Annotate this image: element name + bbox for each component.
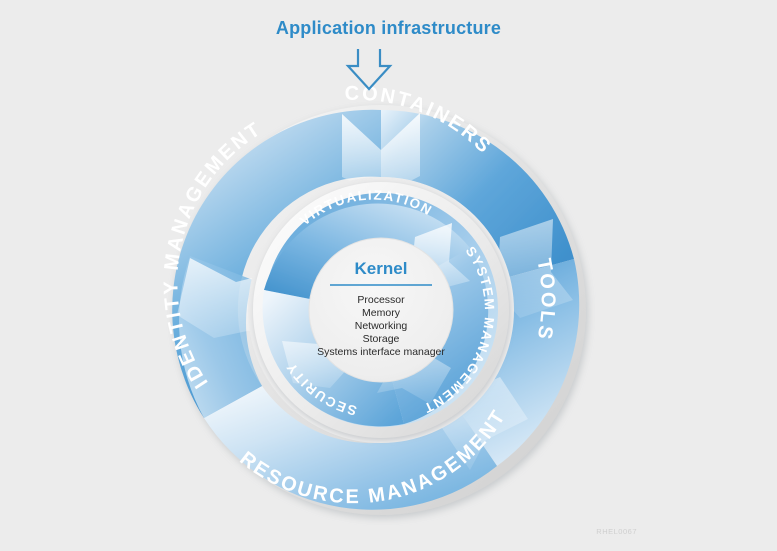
- rhel-architecture-diagram: Kernel Processor Memory Networking Stora…: [0, 0, 777, 551]
- watermark-label: RHEL0067: [596, 527, 637, 536]
- kernel-item-systems-interface-manager: Systems interface manager: [317, 346, 445, 358]
- core-disc: Kernel Processor Memory Networking Stora…: [309, 238, 453, 382]
- kernel-item-processor: Processor: [357, 294, 405, 306]
- kernel-item-networking: Networking: [355, 320, 408, 332]
- kernel-item-memory: Memory: [362, 307, 401, 319]
- kernel-item-storage: Storage: [363, 333, 400, 345]
- kernel-title: Kernel: [355, 259, 408, 278]
- diagram-canvas: Application infrastructure: [0, 0, 777, 551]
